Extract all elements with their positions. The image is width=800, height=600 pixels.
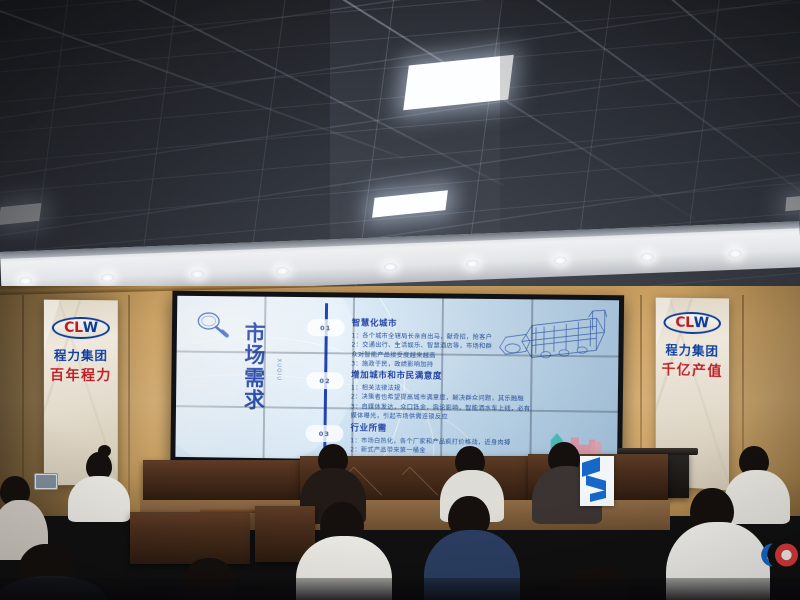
slide-block-02: 增加城市和市民满意度 1：相关法律法规 2：决策者也希望提高城市满意度，解决群众… <box>351 368 531 423</box>
clw-letter-c: C <box>64 321 74 335</box>
clw-logo-left: C L W <box>44 317 118 344</box>
clw-logo-ellipse: C L W <box>52 317 110 339</box>
sign-slogan-right: 千亿产值 <box>656 359 729 381</box>
audience-body <box>68 476 130 522</box>
smartphone[interactable] <box>34 473 58 490</box>
clw-logo-ellipse: C L W <box>664 312 721 335</box>
slide-title-pinyin: XUQIU <box>275 359 281 382</box>
foreground-silhouette <box>0 578 800 600</box>
timeline-marker-01: 01 <box>307 319 345 336</box>
banner-graphic <box>582 457 600 477</box>
bench-row-front <box>130 512 250 564</box>
sign-company-name-left: 程力集团 <box>44 345 118 364</box>
downlight <box>554 256 567 264</box>
sign-company-name-right: 程力集团 <box>656 339 729 360</box>
block-heading: 行业所需 <box>350 421 510 435</box>
sign-slogan-left: 百年程力 <box>44 365 118 385</box>
audience-body <box>724 470 790 524</box>
audience-head <box>98 445 111 457</box>
clw-letter-w: W <box>83 321 98 335</box>
downlight <box>19 277 32 285</box>
clw-letter-w: W <box>694 316 709 330</box>
audience-area <box>0 440 800 600</box>
downlight <box>641 253 654 261</box>
conference-hall-scene: C L W 程力集团 百年程力 C L W 程力集团 千亿产值 <box>0 0 800 600</box>
standing-banner <box>580 456 614 506</box>
slide-title: 市场需求 <box>237 322 272 412</box>
banner-graphic <box>590 490 606 502</box>
presentation-slide: 市场需求 XUQIU 01 02 03 智慧化城市 1：各个城市全辖局长亲自出马… <box>175 296 619 463</box>
wireframe-truck-icon <box>491 307 613 369</box>
bench-row-back <box>143 460 303 500</box>
downlight <box>384 263 397 271</box>
downlight <box>276 267 289 275</box>
tshirt-logo <box>752 540 798 570</box>
magnifier-icon <box>196 310 230 338</box>
banner-graphic <box>586 475 606 491</box>
block-heading: 智慧化城市 <box>352 317 493 331</box>
video-wall-screen[interactable]: 市场需求 XUQIU 01 02 03 智慧化城市 1：各个城市全辖局长亲自出马… <box>175 296 619 463</box>
clw-logo-right: C L W <box>656 311 729 339</box>
clw-letter-c: C <box>675 316 685 330</box>
clw-letter-l: L <box>74 321 83 335</box>
ceiling-panel-light <box>785 195 800 212</box>
downlight <box>728 250 741 258</box>
block-heading: 增加城市和市民满意度 <box>351 368 531 382</box>
downlight <box>466 260 479 268</box>
timeline-marker-02: 02 <box>306 372 344 389</box>
clw-letter-l: L <box>685 316 694 330</box>
downlight <box>101 274 114 282</box>
downlight <box>191 270 204 278</box>
slide-block-01: 智慧化城市 1：各个城市全辖局长亲自出马，献奇招，抢客户 2：交通出行、生活娱乐… <box>351 317 492 372</box>
phone-screen <box>36 475 56 488</box>
